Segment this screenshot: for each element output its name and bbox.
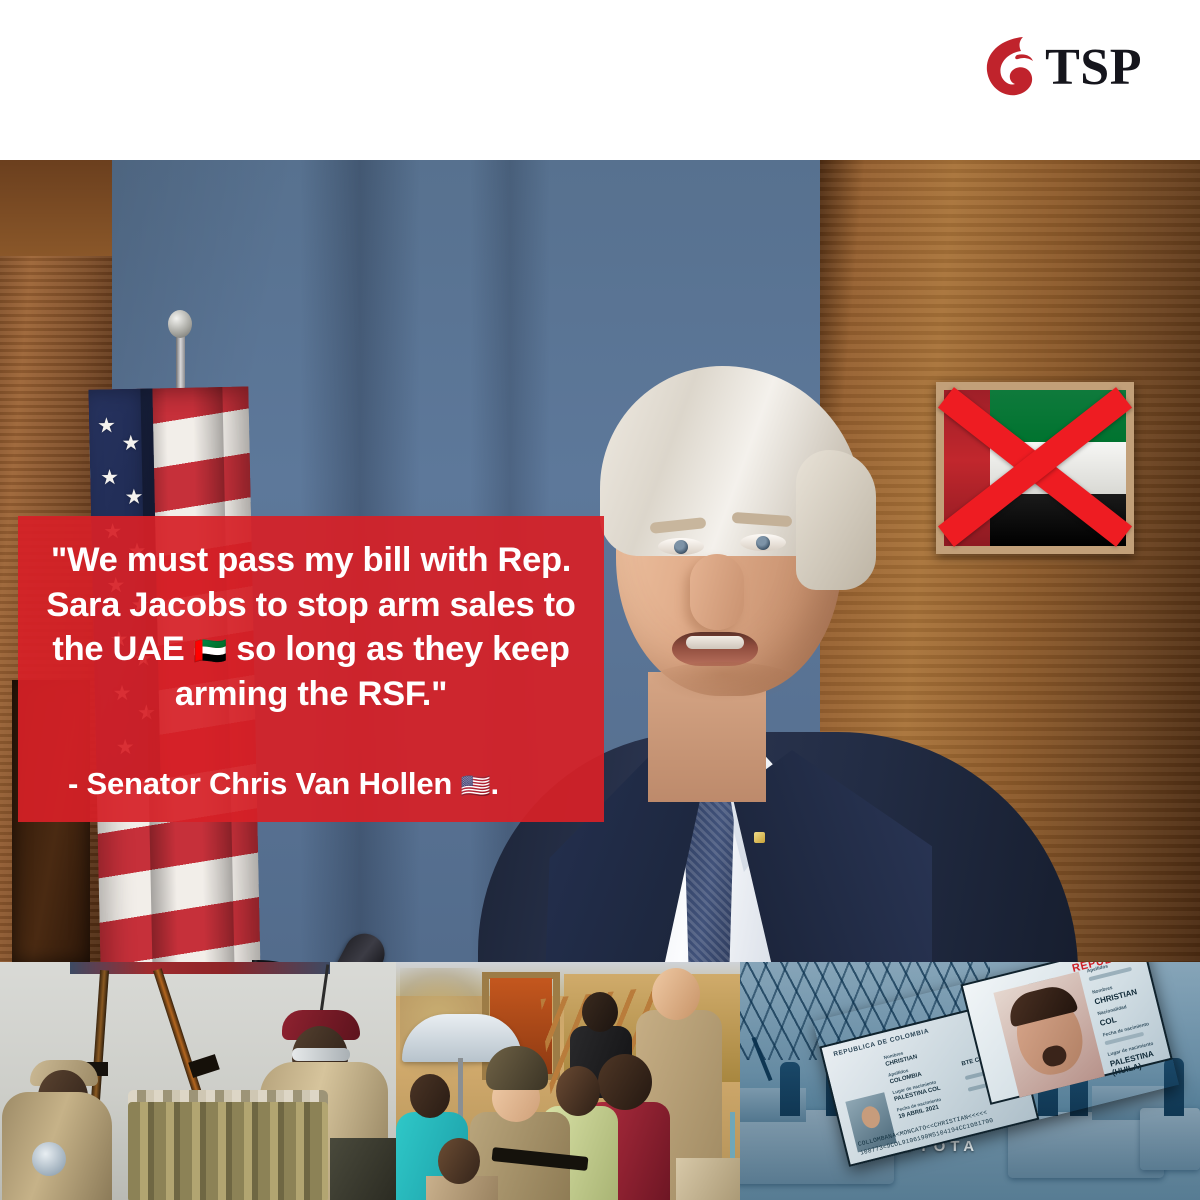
id-front-value-3: COL <box>1099 1015 1118 1028</box>
strip-panel-soldiers <box>0 962 396 1200</box>
flame-swirl-logo-icon <box>979 33 1041 99</box>
hair-side <box>796 450 876 590</box>
ammunition-crate <box>330 1138 396 1200</box>
quote-text: "We must pass my bill with Rep. Sara Jac… <box>42 538 580 717</box>
soldier-1-shoulder-patch <box>32 1142 66 1176</box>
uae-flag-badge <box>936 382 1134 554</box>
background-banner <box>70 962 330 974</box>
umbrella-pole <box>458 1058 463 1118</box>
chin-shadow <box>648 662 798 702</box>
quote-line-4: arming the RSF." <box>175 675 447 713</box>
eye-right <box>740 534 786 551</box>
person-1-head <box>410 1074 450 1118</box>
brand-logo[interactable]: TSP <box>979 30 1142 102</box>
uae-flag-emoji-icon: 🇦🇪 <box>194 636 227 666</box>
brand-logo-text: TSP <box>1045 42 1142 94</box>
person-5-head <box>598 1054 652 1110</box>
quote-line-3-part-b: so long as they keep <box>236 630 569 668</box>
id-card-back-photo-face <box>859 1104 882 1130</box>
quote-line-3-part-a: the UAE <box>52 630 184 668</box>
nose <box>690 554 744 630</box>
strip-panel-group-photo <box>396 962 740 1200</box>
ammunition-rounds <box>128 1102 328 1200</box>
iris-right <box>756 536 770 550</box>
quote-card: "We must pass my bill with Rep. Sara Jac… <box>18 516 604 822</box>
header-bar: TSP <box>0 0 1200 160</box>
wood-panel-left-top <box>0 160 112 256</box>
soldier-2-sunglasses <box>292 1048 350 1061</box>
teeth <box>686 636 744 649</box>
main-photo: ★ ★ ★ ★ ★ ★ ★ ★ ★ ★ ★ ★ ★ <box>0 160 1200 962</box>
quote-attribution: - Senator Chris Van Hollen 🇺🇸. <box>42 766 580 802</box>
id-card-portrait-photo <box>993 972 1105 1098</box>
person-7-head <box>582 992 618 1032</box>
id-card-front: REPÚBLICA Apellidos Nombres CHRISTIAN Na… <box>960 962 1172 1105</box>
lapel-pin <box>754 832 765 843</box>
rubble-pile <box>676 1158 740 1200</box>
iris-left <box>674 540 688 554</box>
strip-panel-convoy-id: TOYOTA REPUBLICA DE COLOMBIA Nombres CHR… <box>740 962 1200 1200</box>
person-6-head <box>652 968 700 1020</box>
quote-attribution-name: - Senator Chris Van Hollen <box>68 766 452 801</box>
us-flag-emoji-icon: 🇺🇸 <box>461 773 491 800</box>
eye-left <box>658 538 704 555</box>
quote-line-2: Sara Jacobs to stop arm sales to <box>46 586 575 624</box>
person-4-head <box>556 1066 600 1116</box>
social-media-graphic: TSP ★ ★ ★ ★ ★ ★ ★ <box>0 0 1200 1200</box>
quote-attribution-period: . <box>490 766 498 801</box>
person-2-head <box>438 1138 480 1184</box>
quote-line-1: "We must pass my bill with Rep. <box>51 541 571 579</box>
flag-pole-finial <box>168 310 192 338</box>
bottom-image-strip: TOYOTA REPUBLICA DE COLOMBIA Nombres CHR… <box>0 962 1200 1200</box>
